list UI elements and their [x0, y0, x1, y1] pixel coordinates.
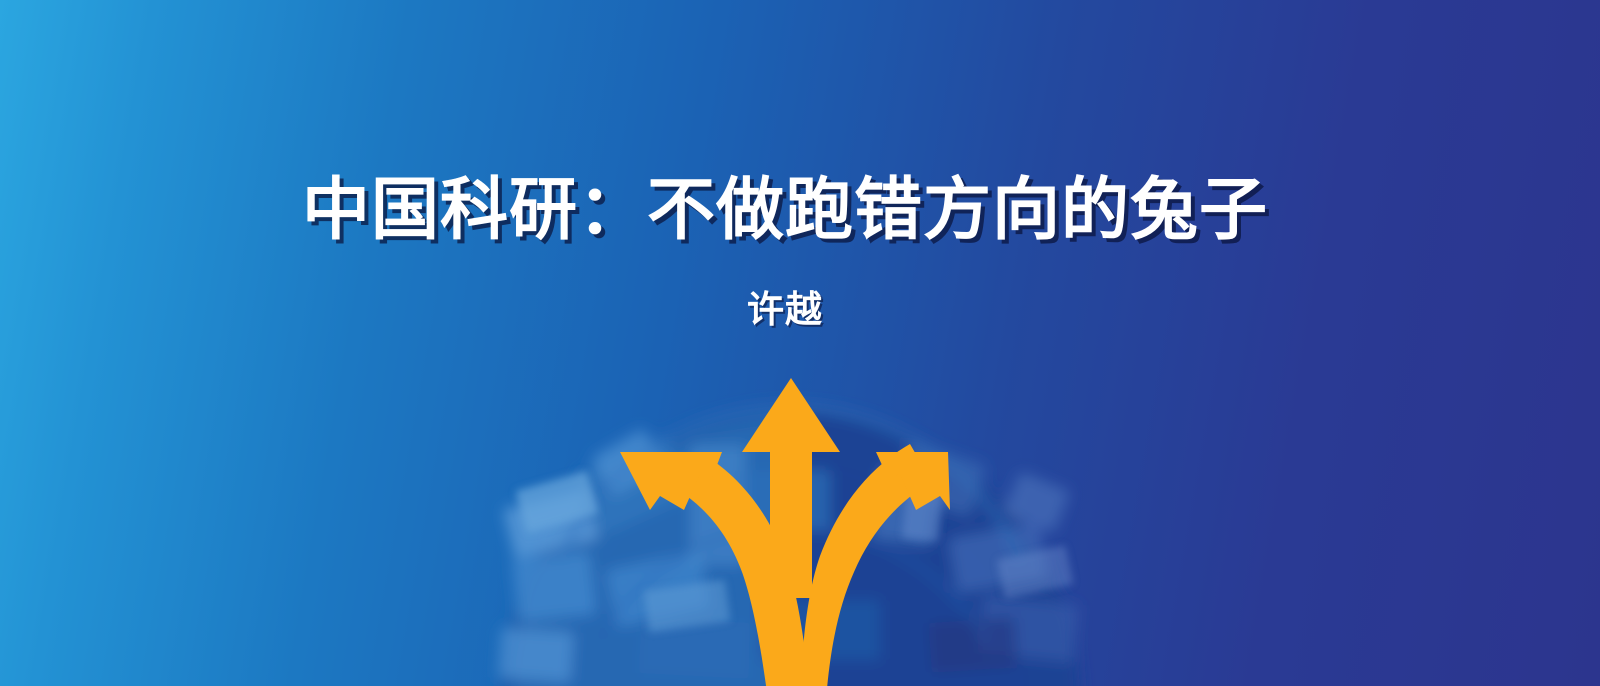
page-title: 中国科研：不做跑错方向的兔子 [0, 176, 1570, 244]
arrow-left-head [620, 452, 722, 510]
title-slide: 中国科研：不做跑错方向的兔子 许越 [0, 0, 1600, 686]
arrow-center-head [742, 378, 840, 462]
arrow-left-stem [678, 452, 806, 686]
three-way-arrow-graphic [0, 0, 1600, 686]
arrow-center-stem [770, 448, 812, 598]
arrow-right-head [876, 452, 950, 510]
background-decoration [0, 0, 1600, 686]
arrow-right-stem [800, 444, 932, 686]
slide-subtitle-author: 许越 [0, 291, 1570, 328]
